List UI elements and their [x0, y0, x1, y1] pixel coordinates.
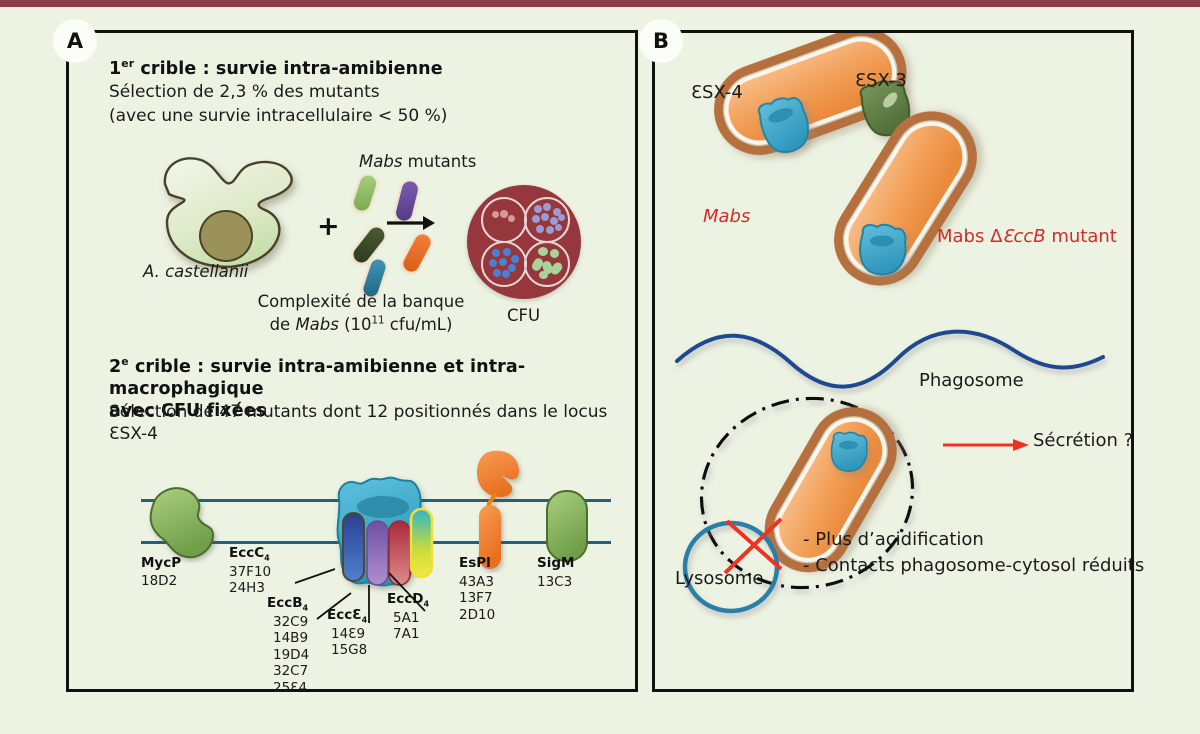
espl-name: EsPl — [459, 555, 491, 571]
esx4-label: ƐSX-4 — [691, 81, 743, 105]
code: 5A1 — [393, 610, 419, 626]
label-eccd4: EccD4 — [387, 591, 429, 609]
mutant-pre: Mabs Δ — [937, 226, 1002, 247]
label-mycp: MycP — [141, 555, 181, 571]
code: 32C7 — [273, 663, 309, 679]
code: 7A1 — [393, 626, 419, 642]
code: 25Ɛ4 — [273, 680, 309, 696]
sigm-name: SigM — [537, 555, 574, 571]
code: 43A3 — [459, 574, 495, 590]
codes-eccb4: 32C9 14B9 19D4 32C7 25Ɛ4 — [273, 614, 309, 696]
code: 2D10 — [459, 607, 495, 623]
label-eccc4: EccC4 — [229, 545, 270, 563]
secretion-arrow — [943, 437, 1029, 451]
code: 18D2 — [141, 573, 177, 589]
label-eccb4: EccB4 — [267, 595, 308, 613]
code: 37F10 — [229, 564, 271, 580]
ecce-name: EccƐ — [327, 607, 362, 623]
codes-ecce4: 14Ɛ9 15G8 — [331, 626, 367, 659]
mycp-name: MycP — [141, 555, 181, 571]
phagosome-effects-list: - Plus d’acidification - Contacts phagos… — [803, 527, 1144, 579]
eccc-sub: 4 — [264, 553, 270, 563]
eccd-sub: 4 — [423, 599, 429, 609]
eccc-name: EccC — [229, 545, 264, 561]
eccb-sub: 4 — [303, 603, 309, 613]
mutant-post: mutant — [1046, 226, 1117, 247]
code: 19D4 — [273, 647, 309, 663]
eccb-name: EccB — [267, 595, 303, 611]
secretion-label: Sécrétion ? — [1033, 429, 1133, 453]
eccd-name: EccD — [387, 591, 423, 607]
mabs-eccb-mutant-label: Mabs ΔƐccB mutant — [937, 225, 1117, 249]
label-ecce4: EccƐ4 — [327, 607, 367, 625]
codes-espl: 43A3 13F7 2D10 — [459, 574, 495, 623]
label-sigm: SigM — [537, 555, 574, 571]
ecce-sub: 4 — [362, 615, 368, 625]
code: 14B9 — [273, 630, 309, 646]
code: 32C9 — [273, 614, 309, 630]
phagosome-label: Phagosome — [919, 369, 1024, 393]
code: 14Ɛ9 — [331, 626, 367, 642]
esx3-label: ƐSX-3 — [855, 69, 907, 93]
list-item: - Contacts phagosome-cytosol réduits — [803, 553, 1144, 579]
lysosome-label: Lysosome — [675, 567, 763, 591]
codes-eccd4: 5A1 7A1 — [393, 610, 419, 643]
code: 15G8 — [331, 642, 367, 658]
label-espl: EsPl — [459, 555, 491, 571]
list-item: - Plus d’acidification — [803, 527, 1144, 553]
code: 24H3 — [229, 580, 271, 596]
top-accent-bar — [0, 0, 1200, 7]
mabs-label: Mabs — [703, 205, 750, 229]
codes-mycp: 18D2 — [141, 573, 177, 589]
code: 13C3 — [537, 574, 572, 590]
codes-eccc4: 37F10 24H3 — [229, 564, 271, 597]
code: 13F7 — [459, 590, 495, 606]
leader-lines — [69, 33, 641, 695]
codes-sigm: 13C3 — [537, 574, 572, 590]
panel-a: A 1er crible : survie intra-amibienne Sé… — [66, 30, 638, 692]
mutant-italic: ƐccB — [1002, 226, 1045, 247]
panel-b: B — [652, 30, 1134, 692]
